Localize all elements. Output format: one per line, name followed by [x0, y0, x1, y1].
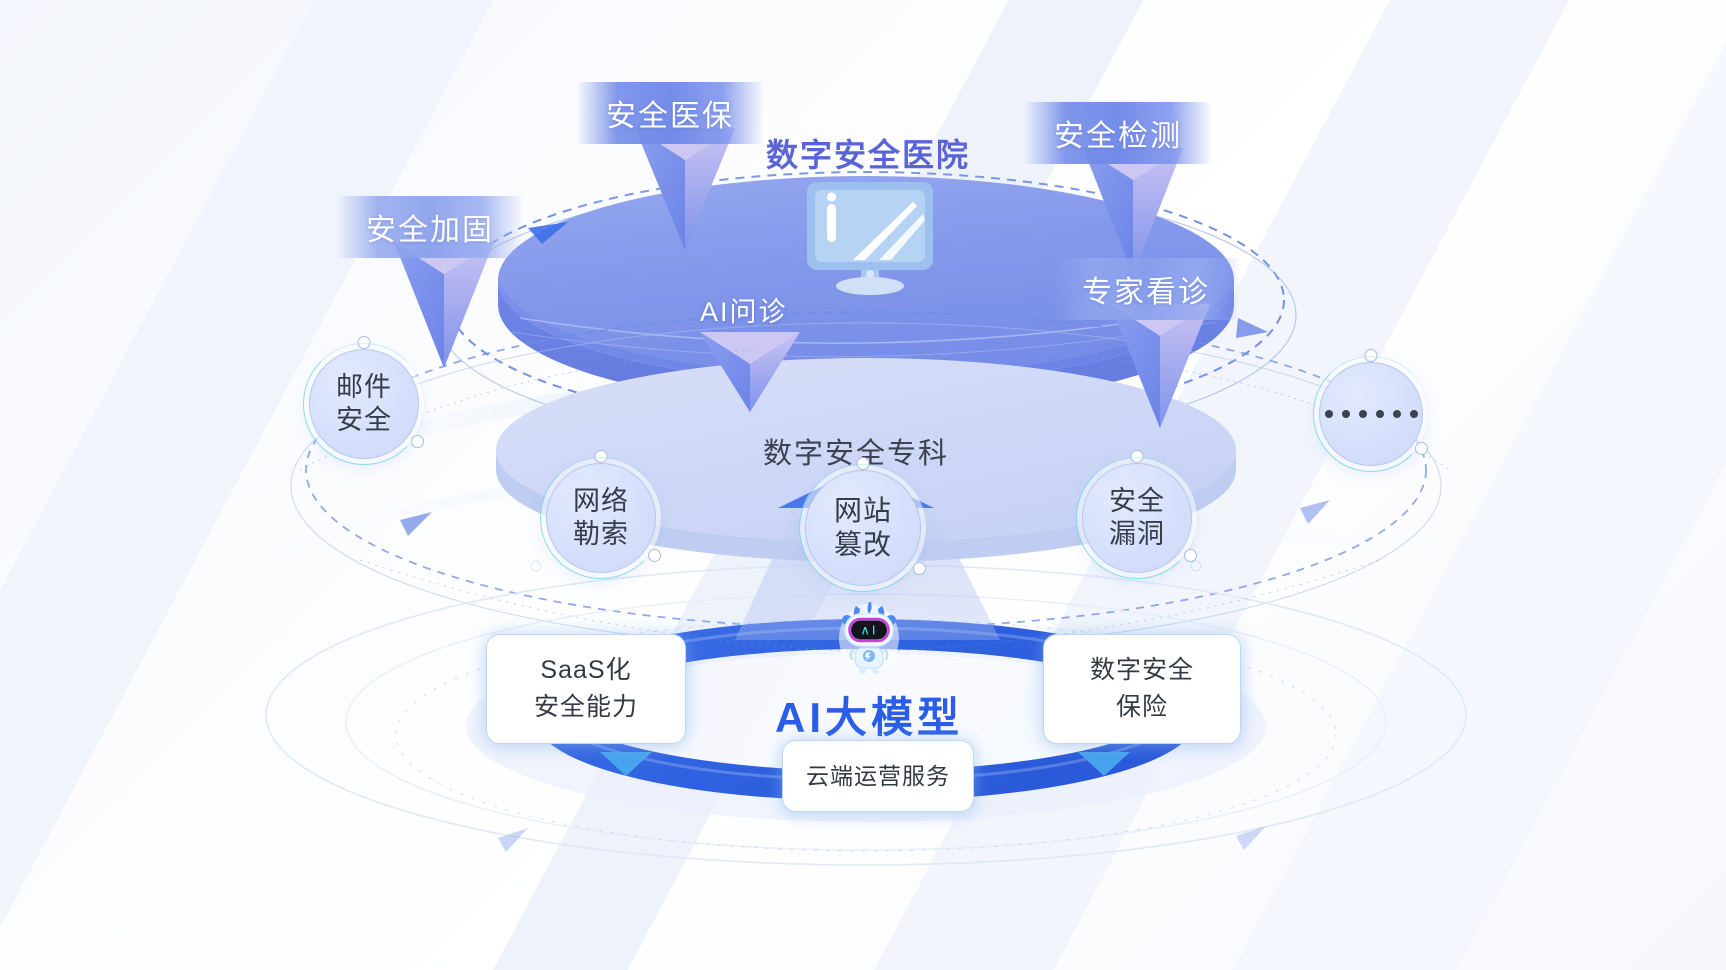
node-more-ellipsis[interactable] — [1319, 362, 1423, 466]
card-label-line1: 数字安全 — [1090, 652, 1194, 690]
page-title-hospital: 数字安全医院 — [766, 130, 970, 176]
ellipsis-dots — [1325, 410, 1418, 418]
ring-label-security-detection[interactable]: 安全检测 — [1024, 102, 1212, 164]
node-mail-security[interactable]: 邮件 安全 — [309, 349, 419, 459]
monitor-icon — [805, 180, 935, 296]
ring-label-expert-consultation[interactable]: 专家看诊 — [1052, 258, 1240, 320]
ring-label-security-hardening[interactable]: 安全加固 — [336, 196, 524, 258]
node-anchor-pip — [1184, 549, 1197, 562]
label-ai-large-model: AI大模型 — [775, 684, 963, 745]
node-anchor-pip — [1415, 442, 1428, 455]
node-anchor-pip — [1365, 349, 1378, 362]
card-saas-security[interactable]: SaaS化 安全能力 — [486, 634, 686, 744]
node-anchor-pip — [913, 562, 926, 575]
card-label-line1: 云端运营服务 — [806, 759, 950, 794]
ai-robot-icon: ∧I — [838, 598, 900, 676]
cone-arrow-security-hardening — [394, 242, 494, 368]
node-anchor-pip — [648, 549, 661, 562]
node-label-line1: 网络 — [573, 485, 629, 518]
card-label-line1: SaaS化 — [540, 652, 631, 690]
ring-label-text: 专家看诊 — [1082, 267, 1210, 311]
node-anchor-pip — [595, 450, 608, 463]
label-ai-consultation: AI问诊 — [700, 290, 788, 329]
node-security-vulnerability[interactable]: 安全 漏洞 — [1082, 463, 1192, 573]
card-label-line2: 安全能力 — [534, 689, 638, 727]
svg-text:∧I: ∧I — [860, 623, 877, 638]
card-cloud-operation-service[interactable]: 云端运营服务 — [782, 740, 974, 812]
ring-label-text: 安全检测 — [1054, 111, 1182, 155]
node-anchor-pip — [857, 457, 870, 470]
node-label-line2: 漏洞 — [1109, 518, 1165, 551]
node-website-tamper[interactable]: 网站 篡改 — [805, 470, 921, 586]
card-digital-security-insurance[interactable]: 数字安全 保险 — [1043, 634, 1241, 744]
node-label-line2: 安全 — [336, 404, 392, 437]
ring-label-security-insurance-medical[interactable]: 安全医保 — [576, 82, 764, 144]
diagram-canvas: ∧I 安全医保 安全检测 安全加固 专家看诊 数字安全医院 AI问诊 数字安全专… — [0, 0, 1726, 970]
node-label-line2: 篡改 — [834, 528, 892, 562]
node-label-line2: 勒索 — [573, 518, 629, 551]
ring-label-text: 安全医保 — [606, 91, 734, 135]
node-anchor-pip — [358, 336, 371, 349]
node-label-line1: 网站 — [834, 494, 892, 528]
node-label-line1: 安全 — [1109, 485, 1165, 518]
card-label-line2: 保险 — [1116, 689, 1168, 727]
ring-label-text: 安全加固 — [366, 205, 494, 249]
node-anchor-pip — [411, 435, 424, 448]
node-label-line1: 邮件 — [336, 371, 392, 404]
node-anchor-pip — [1131, 450, 1144, 463]
node-network-ransom[interactable]: 网络 勒索 — [546, 463, 656, 573]
